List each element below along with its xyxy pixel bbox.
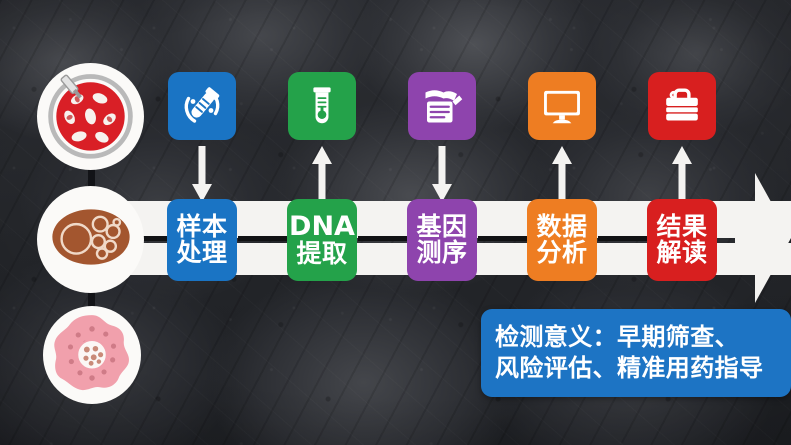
stage-label-gene-sequencing[interactable]: 基因测序 — [407, 199, 477, 281]
stage-arrow-down-sample-processing — [191, 146, 213, 202]
stage-label-line-2: 解读 — [656, 240, 707, 266]
stage-label-line-1: 结果 — [656, 214, 707, 240]
stage-icon-tile-gene-sequencing[interactable] — [408, 72, 476, 140]
infographic-canvas: 样本处理 DNA提取 — [0, 0, 791, 445]
test-tube-rotate-icon — [178, 82, 226, 130]
stage-label-line-1: DNA — [289, 213, 355, 241]
stage-label-line-1: 数据 — [536, 214, 587, 240]
stage-arrow-up-dna-extraction — [311, 146, 333, 202]
stage-arrow-up-result-interpretation — [671, 146, 693, 202]
stage-icon-tile-sample-processing[interactable] — [168, 72, 236, 140]
documents-scan-icon — [418, 82, 466, 130]
stage-arrow-up-data-analysis — [551, 146, 573, 202]
stage-label-line-2: 分析 — [536, 240, 587, 266]
stage-label-line-2: 提取 — [296, 241, 347, 267]
banner-line-2: 风险评估、精准用药指导 — [495, 353, 791, 384]
stage-icon-tile-data-analysis[interactable] — [528, 72, 596, 140]
stage-label-line-2: 测序 — [416, 240, 467, 266]
stage-icon-tile-result-interpretation[interactable] — [648, 72, 716, 140]
stage-label-line-2: 处理 — [176, 240, 227, 266]
stage-label-line-1: 样本 — [176, 214, 227, 240]
stage-label-dna-extraction[interactable]: DNA提取 — [287, 199, 357, 281]
monitor-icon — [538, 83, 586, 129]
stage-icon-tile-dna-extraction[interactable] — [288, 72, 356, 140]
stage-label-sample-processing[interactable]: 样本处理 — [167, 199, 237, 281]
test-tube-icon — [299, 83, 345, 129]
detection-significance-banner: 检测意义：早期筛查、 风险评估、精准用药指导 — [481, 309, 791, 397]
stage-label-result-interpretation[interactable]: 结果解读 — [647, 199, 717, 281]
stage-label-line-1: 基因 — [416, 214, 467, 240]
stage-arrow-down-gene-sequencing — [431, 146, 453, 202]
medical-kit-icon — [659, 84, 705, 128]
stage-label-data-analysis[interactable]: 数据分析 — [527, 199, 597, 281]
banner-line-1: 检测意义：早期筛查、 — [495, 322, 791, 353]
